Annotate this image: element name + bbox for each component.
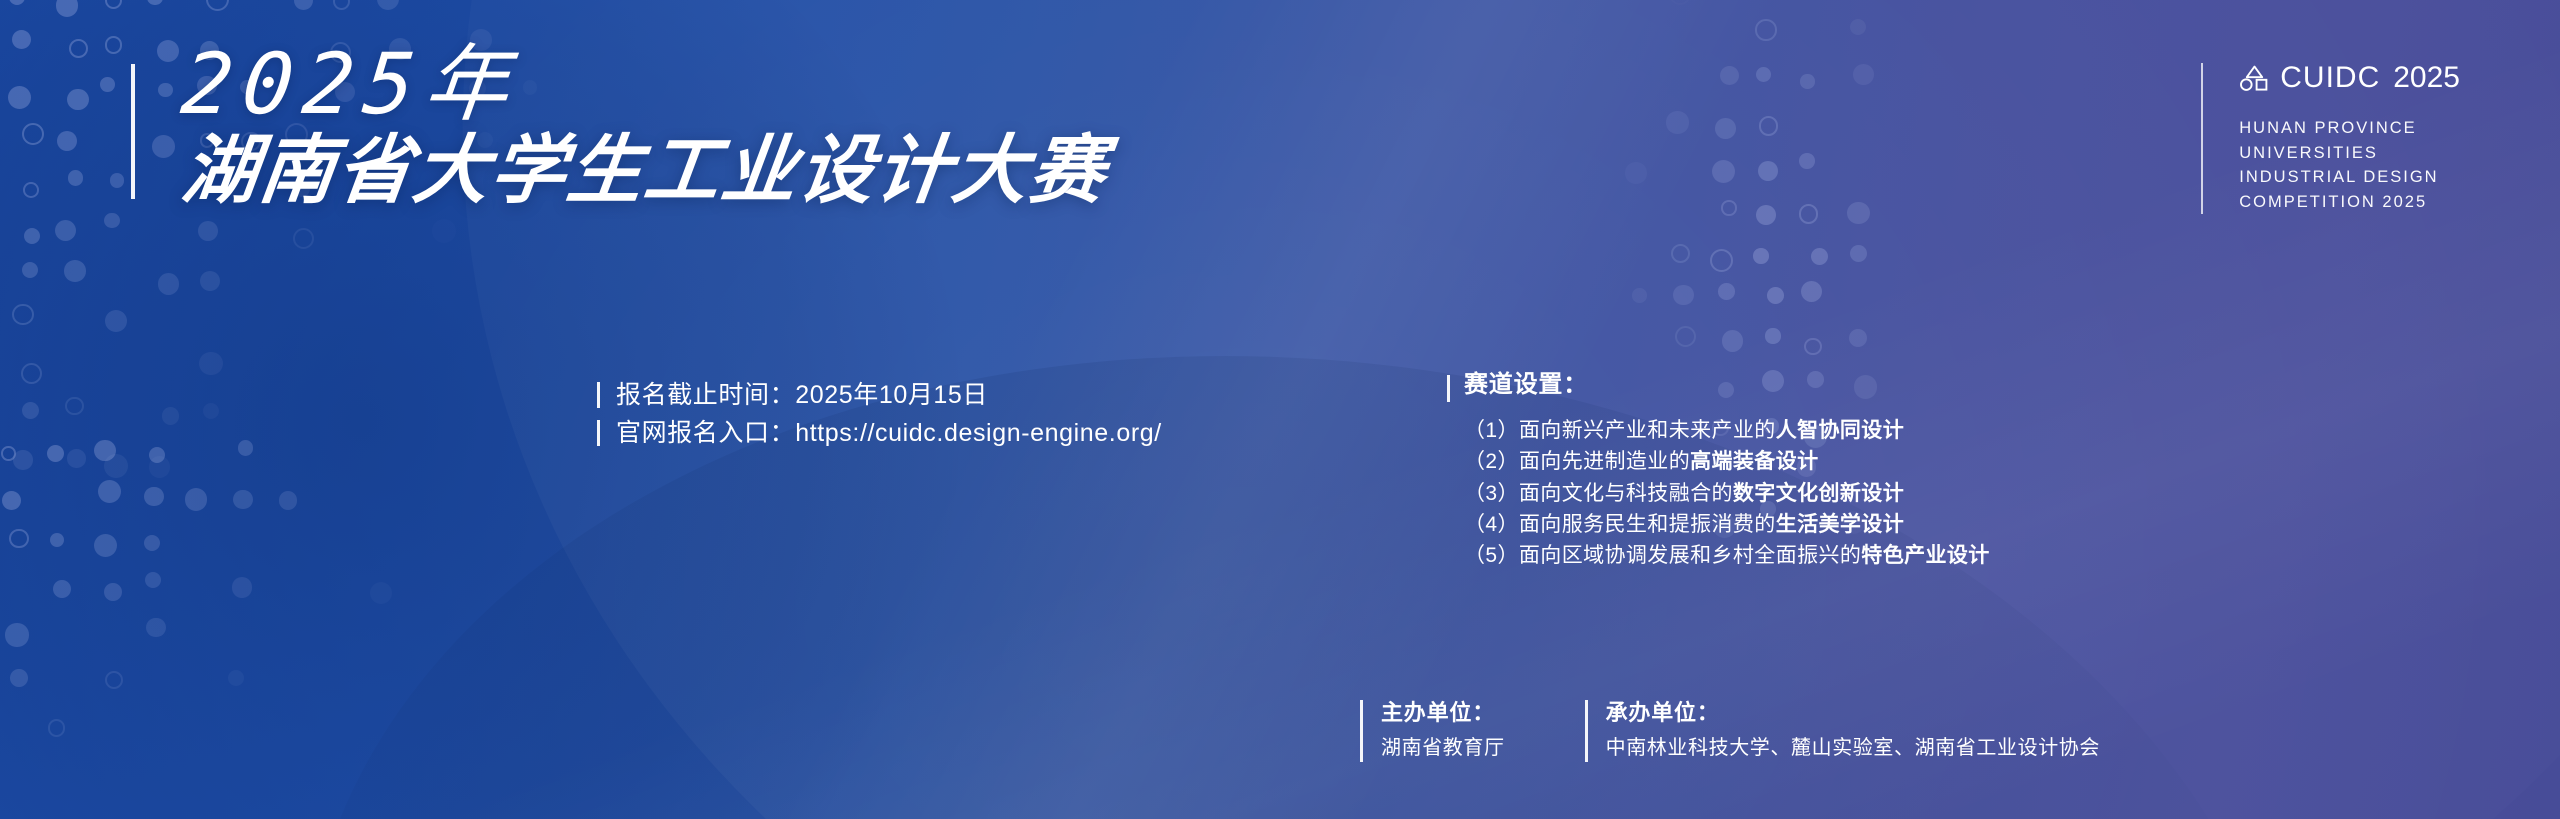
- tick-marker: [597, 382, 600, 408]
- brand-english-line-1: HUNAN PROVINCE: [2239, 116, 2460, 141]
- track-item: （5）面向区域协调发展和乡村全面振兴的特色产业设计: [1464, 540, 1990, 571]
- track-number: （3）: [1464, 482, 1519, 505]
- tracks-block: 赛道设置： （1）面向新兴产业和未来产业的人智协同设计（2）面向先进制造业的高端…: [1447, 373, 1990, 571]
- registration-info-block: 报名截止时间：2025年10月15日 官网报名入口：https://cuidc.…: [597, 376, 1162, 452]
- track-item: （1）面向新兴产业和未来产业的人智协同设计: [1464, 415, 1990, 446]
- brand-english-line-2: UNIVERSITIES: [2239, 141, 2460, 166]
- organizer-undertaker: 承办单位： 中南林业科技大学、麓山实验室、湖南省工业设计协会: [1585, 700, 2180, 762]
- headline-year: 2025年: [178, 44, 1110, 125]
- cuidc-geometric-mark-icon: [2239, 65, 2270, 92]
- track-lead: 面向区域协调发展和乡村全面振兴的: [1519, 544, 1861, 567]
- brand-name-text: CUIDC: [2280, 61, 2380, 94]
- brand-english-line-4: COMPETITION 2025: [2239, 190, 2460, 215]
- brand-english-subtitle: HUNAN PROVINCE UNIVERSITIES INDUSTRIAL D…: [2239, 116, 2460, 214]
- track-item: （4）面向服务民生和提振消费的生活美学设计: [1464, 509, 1990, 540]
- undertaker-label: 承办单位：: [1606, 700, 2100, 727]
- registration-url-text[interactable]: 官网报名入口：https://cuidc.design-engine.org/: [616, 421, 1162, 446]
- brand-top-row: CUIDC2025: [2239, 63, 2460, 93]
- track-lead: 面向新兴产业和未来产业的: [1519, 419, 1776, 442]
- tick-marker: [1585, 700, 1588, 762]
- track-list: （1）面向新兴产业和未来产业的人智协同设计（2）面向先进制造业的高端装备设计（3…: [1464, 415, 1990, 571]
- headline-block: 2025年 湖南省大学生工业设计大赛: [178, 44, 1102, 209]
- track-emphasis: 高端装备设计: [1690, 450, 1818, 473]
- track-number: （2）: [1464, 450, 1519, 473]
- track-emphasis: 人智协同设计: [1776, 419, 1904, 442]
- track-number: （4）: [1464, 513, 1519, 536]
- host-label: 主办单位：: [1381, 700, 1505, 727]
- deadline-row: 报名截止时间：2025年10月15日: [597, 376, 1162, 414]
- track-item: （2）面向先进制造业的高端装备设计: [1464, 446, 1990, 477]
- track-lead: 面向服务民生和提振消费的: [1519, 513, 1776, 536]
- headline-accent-rule: [131, 64, 135, 199]
- undertaker-value: 中南林业科技大学、麓山实验室、湖南省工业设计协会: [1606, 736, 2100, 760]
- deadline-text: 报名截止时间：2025年10月15日: [616, 383, 988, 408]
- track-lead: 面向先进制造业的: [1519, 450, 1690, 473]
- track-emphasis: 数字文化创新设计: [1733, 482, 1904, 505]
- track-emphasis: 生活美学设计: [1776, 513, 1904, 536]
- track-number: （5）: [1464, 544, 1519, 567]
- tick-marker: [1447, 375, 1450, 402]
- track-item: （3）面向文化与科技融合的数字文化创新设计: [1464, 478, 1990, 509]
- brand-year: 2025: [2393, 61, 2460, 94]
- tick-marker: [597, 420, 600, 446]
- organizer-host: 主办单位： 湖南省教育厅: [1360, 700, 1585, 762]
- track-lead: 面向文化与科技融合的: [1519, 482, 1733, 505]
- page-title: 湖南省大学生工业设计大赛: [178, 131, 1112, 209]
- registration-url-row[interactable]: 官网报名入口：https://cuidc.design-engine.org/: [597, 414, 1162, 452]
- tracks-heading: 赛道设置：: [1464, 373, 1588, 397]
- track-number: （1）: [1464, 419, 1519, 442]
- host-value: 湖南省教育厅: [1381, 736, 1505, 760]
- event-banner: 2025年 湖南省大学生工业设计大赛 CUIDC2025 HUNAN PROVI…: [0, 0, 2560, 819]
- track-emphasis: 特色产业设计: [1861, 544, 1989, 567]
- brand-lockup: CUIDC2025 HUNAN PROVINCE UNIVERSITIES IN…: [2201, 63, 2460, 214]
- tick-marker: [1360, 700, 1363, 762]
- tracks-heading-row: 赛道设置：: [1447, 373, 1990, 402]
- organizers-block: 主办单位： 湖南省教育厅 承办单位： 中南林业科技大学、麓山实验室、湖南省工业设…: [1360, 700, 2180, 762]
- brand-name: CUIDC2025: [2280, 63, 2460, 93]
- brand-english-line-3: INDUSTRIAL DESIGN: [2239, 165, 2460, 190]
